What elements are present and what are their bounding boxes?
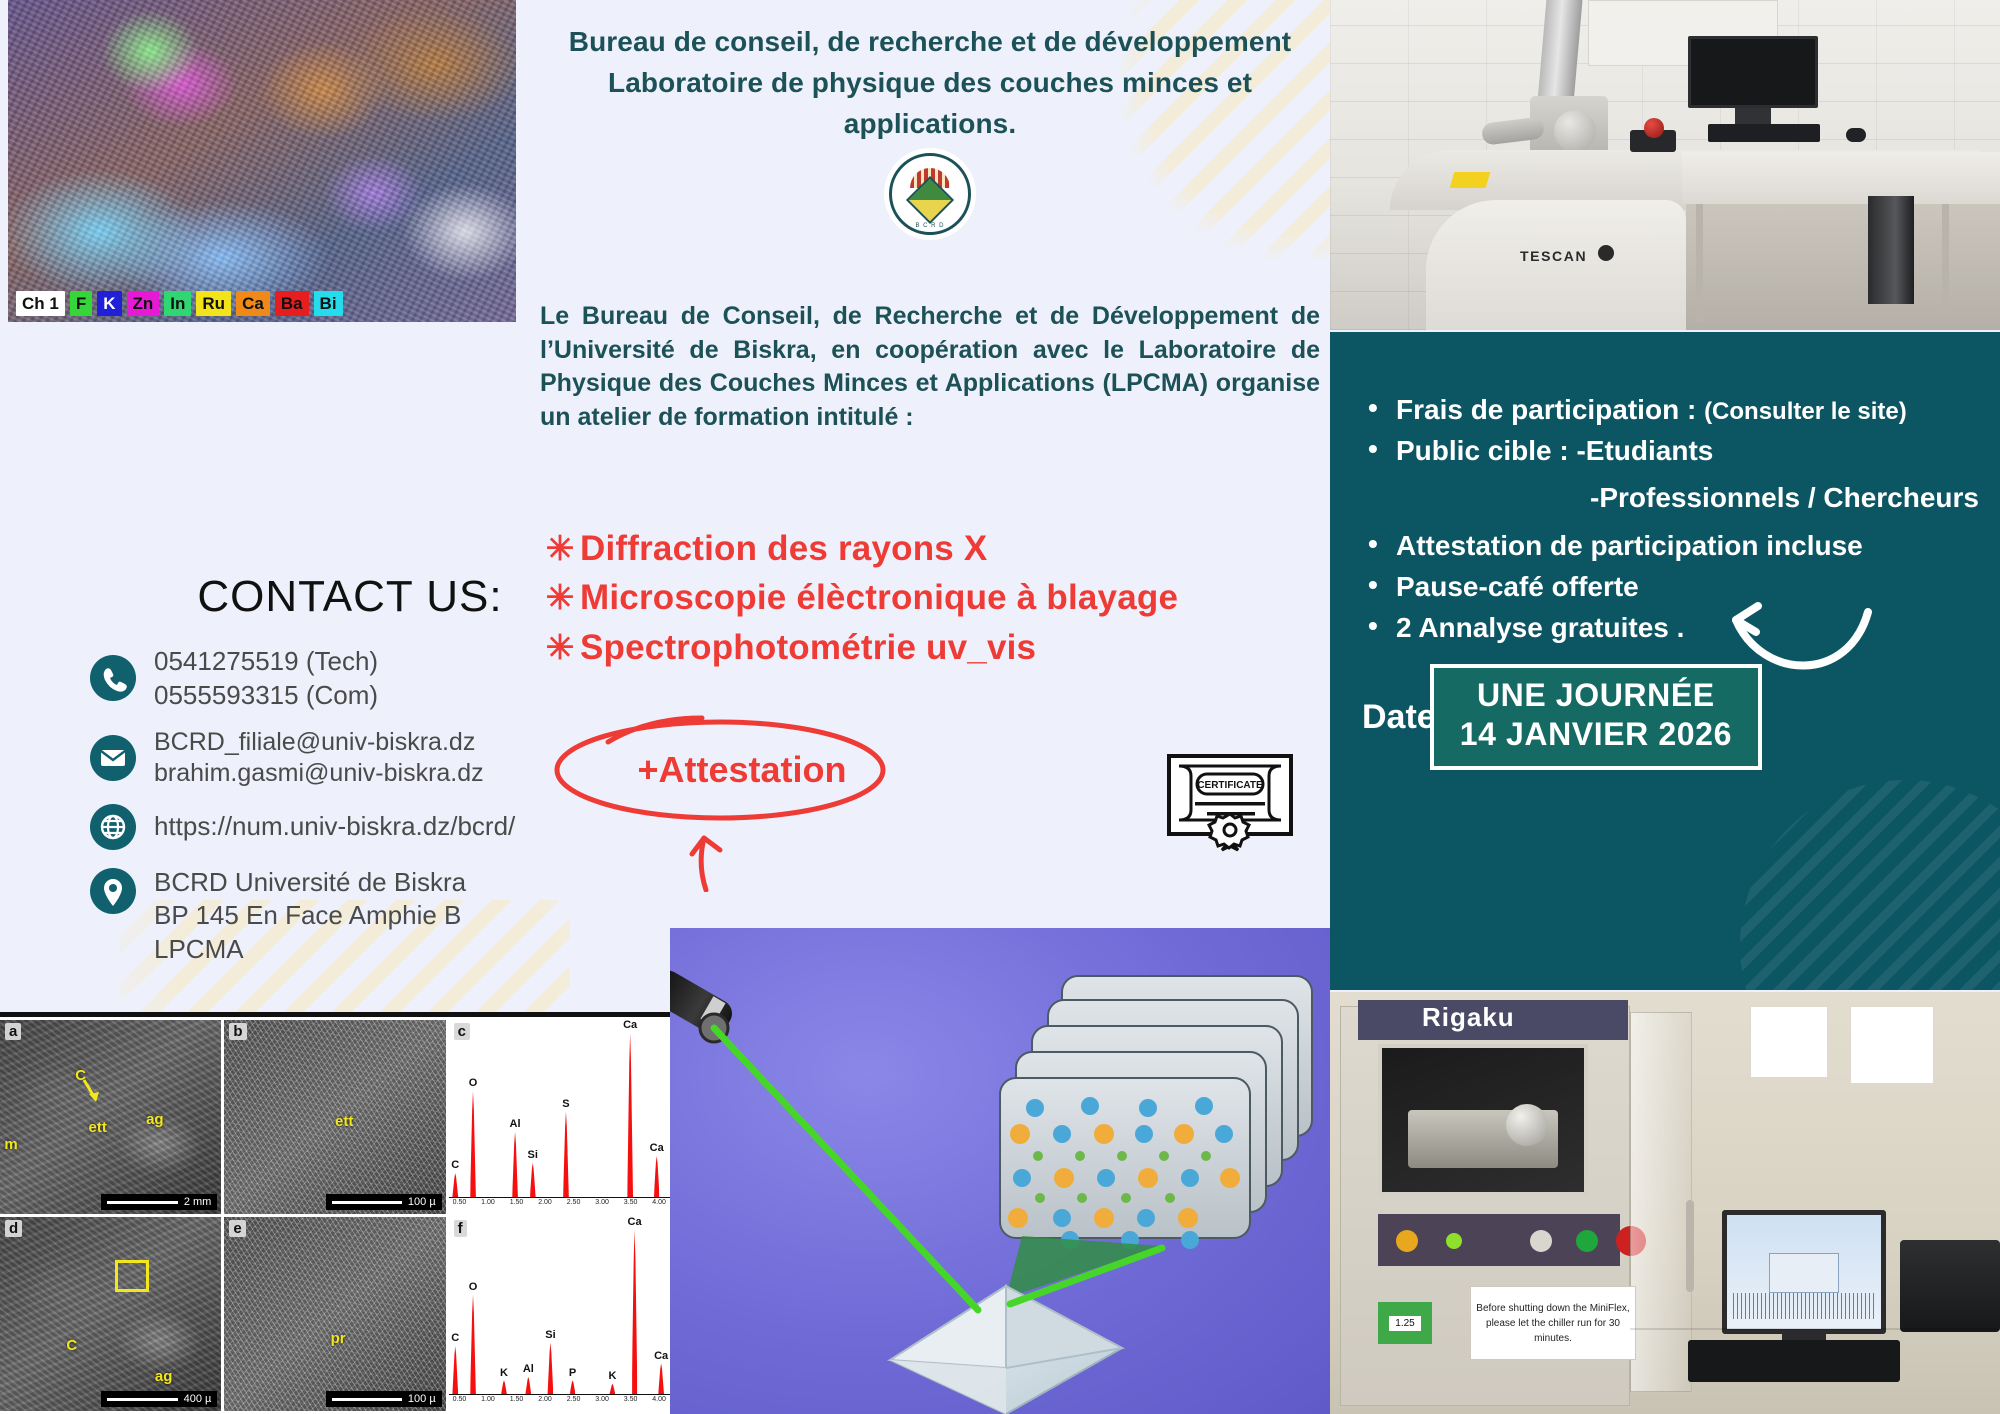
globe-icon (90, 804, 136, 850)
goniometer-disk (1506, 1104, 1548, 1146)
diffraction-trace (1733, 1293, 1875, 1319)
sem-panel-e: e pr 100 µ (224, 1217, 445, 1411)
tescan-logo-dot (1598, 245, 1614, 261)
x-axis-tick: 0.50 (453, 1199, 467, 1213)
decorative-striped-circle (1740, 780, 2000, 990)
spectrum-peak (654, 1156, 660, 1197)
contact-row-address[interactable]: BCRD Université de Biskra BP 145 En Face… (90, 866, 610, 967)
crystal-sample (890, 1286, 1122, 1414)
diffracted-beam-cone (1006, 1236, 1162, 1298)
yellow-roi-box (115, 1260, 149, 1292)
edx-spectrum-f: f COKAlSiPKCaCa 0.501.001.502.002.503.00… (449, 1217, 670, 1411)
wall-paper-left (1750, 1006, 1828, 1078)
scale-bar-d: 400 µ (101, 1391, 217, 1407)
mouse (1846, 128, 1866, 142)
benefit-fees-note: (Consulter le site) (1704, 398, 1907, 425)
status-led-amber (1396, 1230, 1418, 1252)
bcrd-logo: B C R D (884, 148, 976, 240)
screen-dialog (1769, 1253, 1839, 1293)
x-axis-tick: 2.00 (538, 1396, 552, 1410)
eds-element-legend: Ch 1 F K Zn In Ru Ca Ba Bi (16, 291, 343, 316)
eds-chip-Ba: Ba (275, 291, 309, 316)
benefit-audience: Public cible : -Etudiants (1362, 433, 1982, 469)
sem-tag-ag: ag (155, 1368, 173, 1385)
sem-tag-ett: ett (335, 1113, 353, 1130)
topic-row: ✳ Microscopie élèctronique à blayage (540, 577, 1330, 618)
spectrum-peak (452, 1173, 458, 1197)
x-axis-tick: 1.00 (481, 1199, 495, 1213)
x-axis-tick: 2.50 (567, 1396, 581, 1410)
sem-edx-montage: a C ett ag m 2 mm b ett 100 µ c COAl (0, 1012, 670, 1414)
yellow-arrow-icon (80, 1078, 106, 1108)
eds-chip-F: F (70, 291, 92, 316)
green-id-tag: 1.25 (1378, 1302, 1432, 1344)
scale-bar-a: 2 mm (101, 1194, 217, 1210)
contact-row-website[interactable]: https://num.univ-biskra.dz/bcrd/ (90, 804, 610, 850)
sem-tag-m: m (4, 1136, 17, 1153)
xrd-keyboard (1688, 1340, 1900, 1382)
sem-tag-C: C (66, 1337, 77, 1354)
scale-bar-line (332, 1201, 402, 1204)
eds-chip-Zn: Zn (127, 291, 160, 316)
x-axis-tick: 4.00 (652, 1396, 666, 1410)
door-handle[interactable] (1686, 1200, 1694, 1292)
eds-element-map-image: Ch 1 F K Zn In Ru Ca Ba Bi (8, 0, 516, 322)
date-box: UNE JOURNÉE 14 JANVIER 2026 (1430, 664, 1762, 770)
contact-row-phone[interactable]: 0541275519 (Tech) 0555593315 (Com) (90, 644, 610, 713)
date-value: 14 JANVIER 2026 (1460, 715, 1732, 754)
spectrum-peak-label: O (469, 1077, 478, 1089)
spectrum-peak-label: Ca (650, 1142, 664, 1154)
spectrum-peak (470, 1295, 476, 1394)
edx-spectrum-c: c COAlSiSCaCa 0.501.001.502.002.503.003.… (449, 1020, 670, 1214)
benefits-list: Frais de participation : (Consulter le s… (1362, 392, 1982, 474)
x-axis-tick: 1.00 (481, 1396, 495, 1410)
website-url: https://num.univ-biskra.dz/bcrd/ (154, 811, 515, 842)
printer (1900, 1240, 2000, 1332)
x-axis-tick: 2.50 (567, 1199, 581, 1213)
incident-beam (714, 1028, 978, 1310)
topic-label-uvvis: Spectrophotométrie uv_vis (580, 627, 1036, 668)
x-axis-tick: 2.00 (538, 1199, 552, 1213)
spectrum-peak (452, 1346, 458, 1394)
phone-com: 0555593315 (Com) (154, 678, 378, 712)
sem-monitor (1688, 36, 1818, 108)
x-axis-tick: 4.00 (652, 1199, 666, 1213)
spectrum-f-axis (449, 1394, 670, 1395)
spectrum-f-peaks: COKAlSiPKCaCa (449, 1223, 670, 1394)
spectrum-f-xticks: 0.501.001.502.002.503.003.504.00 (449, 1396, 670, 1410)
spectrum-peak-label: K (608, 1370, 616, 1382)
location-pin-icon (90, 868, 136, 920)
certificate-word: CERTIFICATE (1197, 780, 1263, 791)
address-line3: LPCMA (154, 933, 466, 967)
bullet-icon: • (1368, 608, 1378, 644)
sem-panel-a: a C ett ag m 2 mm (0, 1020, 221, 1214)
hazard-sticker (1450, 172, 1491, 188)
spectrum-peak-label: P (569, 1367, 576, 1379)
scale-bar-line (107, 1201, 178, 1204)
panel-letter-a: a (5, 1023, 21, 1040)
spectrum-peak (610, 1384, 616, 1394)
mail-icon (90, 735, 136, 781)
desk-leg (1696, 204, 1703, 322)
sem-panel-d: d C ag 400 µ (0, 1217, 221, 1411)
date-label: Date (1362, 698, 1436, 737)
asterisk-icon: ✳ (540, 532, 580, 566)
bullet-icon: • (1368, 567, 1378, 603)
red-arrow-up-icon (670, 828, 760, 892)
status-led-green (1446, 1233, 1462, 1249)
x-axis-tick: 3.00 (595, 1199, 609, 1213)
sem-tag-pr: pr (331, 1330, 346, 1347)
sem-base-body (1426, 200, 1686, 330)
trackball (1644, 118, 1664, 138)
spectrum-peak-label: C (451, 1332, 459, 1344)
logo-caption: B C R D (892, 223, 968, 229)
benefit-audience-text: Public cible : -Etudiants (1396, 435, 1713, 466)
spectrum-peak-label: Ca (654, 1350, 668, 1362)
email-values: BCRD_filiale@univ-biskra.dz brahim.gasmi… (154, 727, 484, 790)
spectrum-peak-label: C (451, 1159, 459, 1171)
x-axis-tick: 0.50 (453, 1396, 467, 1410)
spectrum-peak (548, 1343, 554, 1394)
xrd-pc-screen (1727, 1215, 1881, 1329)
spectrum-peak (530, 1163, 536, 1197)
spectrum-peak-label: Si (528, 1149, 538, 1161)
spectrum-peak (627, 1033, 633, 1197)
spectrum-c-xticks: 0.501.001.502.002.503.003.504.00 (449, 1199, 670, 1213)
logo-ring: B C R D (889, 153, 971, 235)
benefit-fees-text: Frais de participation : (1396, 394, 1704, 425)
bullet-icon: • (1368, 526, 1378, 562)
spectrum-peak-label: Al (523, 1363, 534, 1375)
rigaku-brand-label: Rigaku (1422, 1002, 1515, 1033)
sem-panel-b: b ett 100 µ (224, 1020, 445, 1214)
spectrum-peak-label: Ca (628, 1217, 642, 1228)
organization-title: Bureau de conseil, de recherche et de dé… (550, 22, 1310, 145)
email-personal: brahim.gasmi@univ-biskra.dz (154, 758, 484, 790)
desk-edge (1630, 1328, 2000, 1330)
scale-bar-line (332, 1398, 402, 1401)
spectrum-c-axis (449, 1197, 670, 1198)
xrd-diffraction-illustration (670, 928, 1330, 1414)
email-filiale: BCRD_filiale@univ-biskra.dz (154, 727, 484, 759)
eds-chip-Ru: Ru (196, 291, 231, 316)
spectrum-peak (512, 1132, 518, 1197)
phone-tech: 0541275519 (Tech) (154, 644, 378, 678)
scale-bar-e: 100 µ (326, 1391, 442, 1407)
benefit-certificate: • Attestation de participation incluse (1362, 528, 1982, 564)
benefit-audience-sub: -Professionnels / Chercheurs (1362, 480, 1982, 516)
spectrum-peak (563, 1112, 569, 1198)
benefit-certificate-text: Attestation de participation incluse (1396, 530, 1863, 561)
info-panel: Frais de participation : (Consulter le s… (1330, 332, 2000, 990)
eds-chip-Bi: Bi (314, 291, 343, 316)
scale-value-d: 400 µ (184, 1393, 212, 1405)
x-axis-tick: 1.50 (510, 1199, 524, 1213)
certificate-icon: CERTIFICATE (1165, 752, 1295, 852)
spectrum-peak-label: Ca (623, 1020, 637, 1031)
spectrum-peak-label: Al (510, 1118, 521, 1130)
phone-icon (90, 655, 136, 701)
brochure-poster: Ch 1 F K Zn In Ru Ca Ba Bi Bureau de con… (0, 0, 2000, 1414)
eds-channel-label: Ch 1 (16, 291, 65, 316)
x-axis-tick: 3.00 (595, 1396, 609, 1410)
spectrum-peak-label: S (562, 1098, 569, 1110)
intro-paragraph: Le Bureau de Conseil, de Recherche et de… (540, 300, 1320, 434)
x-axis-tick: 3.50 (624, 1396, 638, 1410)
topic-label-sem: Microscopie élèctronique à blayage (580, 577, 1178, 618)
panel-letter-f: f (454, 1220, 467, 1237)
desk-leg (1942, 204, 1949, 314)
address-values: BCRD Université de Biskra BP 145 En Face… (154, 866, 466, 967)
date-row: Date UNE JOURNÉE 14 JANVIER 2026 (1362, 664, 1762, 770)
topic-row: ✳ Spectrophotométrie uv_vis (540, 627, 1330, 668)
contact-row-email[interactable]: BCRD_filiale@univ-biskra.dz brahim.gasmi… (90, 727, 610, 790)
rigaku-xrd-photo: Rigaku 1.25 Before shutting down the Min… (1330, 992, 2000, 1414)
scale-bar-b: 100 µ (326, 1194, 442, 1210)
scale-value-a: 2 mm (184, 1196, 212, 1208)
warning-sign: Before shutting down the MiniFlex, pleas… (1470, 1286, 1636, 1360)
panel-letter-d: d (5, 1220, 22, 1237)
topic-label-xrd: Diffraction des rayons X (580, 528, 987, 569)
sem-tag-ag: ag (146, 1111, 164, 1128)
eds-chip-In: In (164, 291, 191, 316)
spectrum-peak (525, 1377, 531, 1394)
lab-floor (1686, 204, 2000, 330)
eds-chip-Ca: Ca (236, 291, 270, 316)
computer-desk (1682, 152, 2000, 204)
address-line2: BP 145 En Face Amphie B (154, 899, 466, 933)
xrd-door[interactable] (1630, 1012, 1692, 1392)
sem-lab-photo: TESCAN (1330, 0, 2000, 330)
phone-values: 0541275519 (Tech) 0555593315 (Com) (154, 644, 378, 713)
panel-letter-c: c (454, 1023, 470, 1040)
date-duration: UNE JOURNÉE (1460, 676, 1732, 715)
lattice-plane-stack (1000, 976, 1312, 1249)
scale-bar-line (107, 1398, 177, 1401)
keyboard (1708, 124, 1820, 142)
xrd-pc-monitor (1722, 1210, 1886, 1334)
panel-letter-e: e (229, 1220, 245, 1237)
laser-source (670, 965, 737, 1042)
scale-value-e: 100 µ (408, 1393, 436, 1405)
x-axis-tick: 1.50 (510, 1396, 524, 1410)
topic-row: ✳ Diffraction des rayons X (540, 528, 1330, 569)
tag-value: 1.25 (1389, 1316, 1420, 1331)
tescan-brand-label: TESCAN (1520, 248, 1587, 264)
spectrum-peak-label: K (500, 1367, 508, 1379)
contact-heading: CONTACT US: (90, 572, 610, 622)
workshop-topics-list: ✳ Diffraction des rayons X ✳ Microscopie… (540, 528, 1330, 676)
address-line1: BCRD Université de Biskra (154, 866, 466, 900)
sem-tag-ett: ett (89, 1119, 107, 1136)
spectrum-peak-label: O (469, 1281, 478, 1293)
pc-tower (1868, 196, 1914, 304)
spectrum-peak (632, 1230, 638, 1394)
benefit-analyses-text: 2 Annalyse gratuites . (1396, 612, 1684, 643)
button-grey[interactable] (1530, 1230, 1552, 1252)
panel-letter-b: b (229, 1023, 246, 1040)
spectrum-peak (501, 1380, 507, 1394)
spectrum-peak (570, 1380, 576, 1394)
spectrum-peak (470, 1091, 476, 1197)
warning-sign-text: Before shutting down the MiniFlex, pleas… (1475, 1301, 1631, 1346)
benefit-coffee-text: Pause-café offerte (1396, 571, 1639, 602)
monitor-stand (1735, 108, 1771, 124)
sem-lens (1554, 110, 1596, 152)
x-axis-tick: 3.50 (624, 1199, 638, 1213)
spectrum-peak (658, 1363, 664, 1394)
contact-section: CONTACT US: 0541275519 (Tech) 0555593315… (90, 572, 610, 967)
benefit-fees: Frais de participation : (Consulter le s… (1362, 392, 1982, 428)
wall-paper-right (1850, 1006, 1934, 1084)
eds-chip-K: K (97, 291, 121, 316)
scale-value-b: 100 µ (408, 1196, 436, 1208)
spectrum-peak-label: Si (545, 1329, 555, 1341)
spectrum-c-peaks: COAlSiSCaCa (449, 1026, 670, 1197)
button-start-green[interactable] (1576, 1230, 1598, 1252)
